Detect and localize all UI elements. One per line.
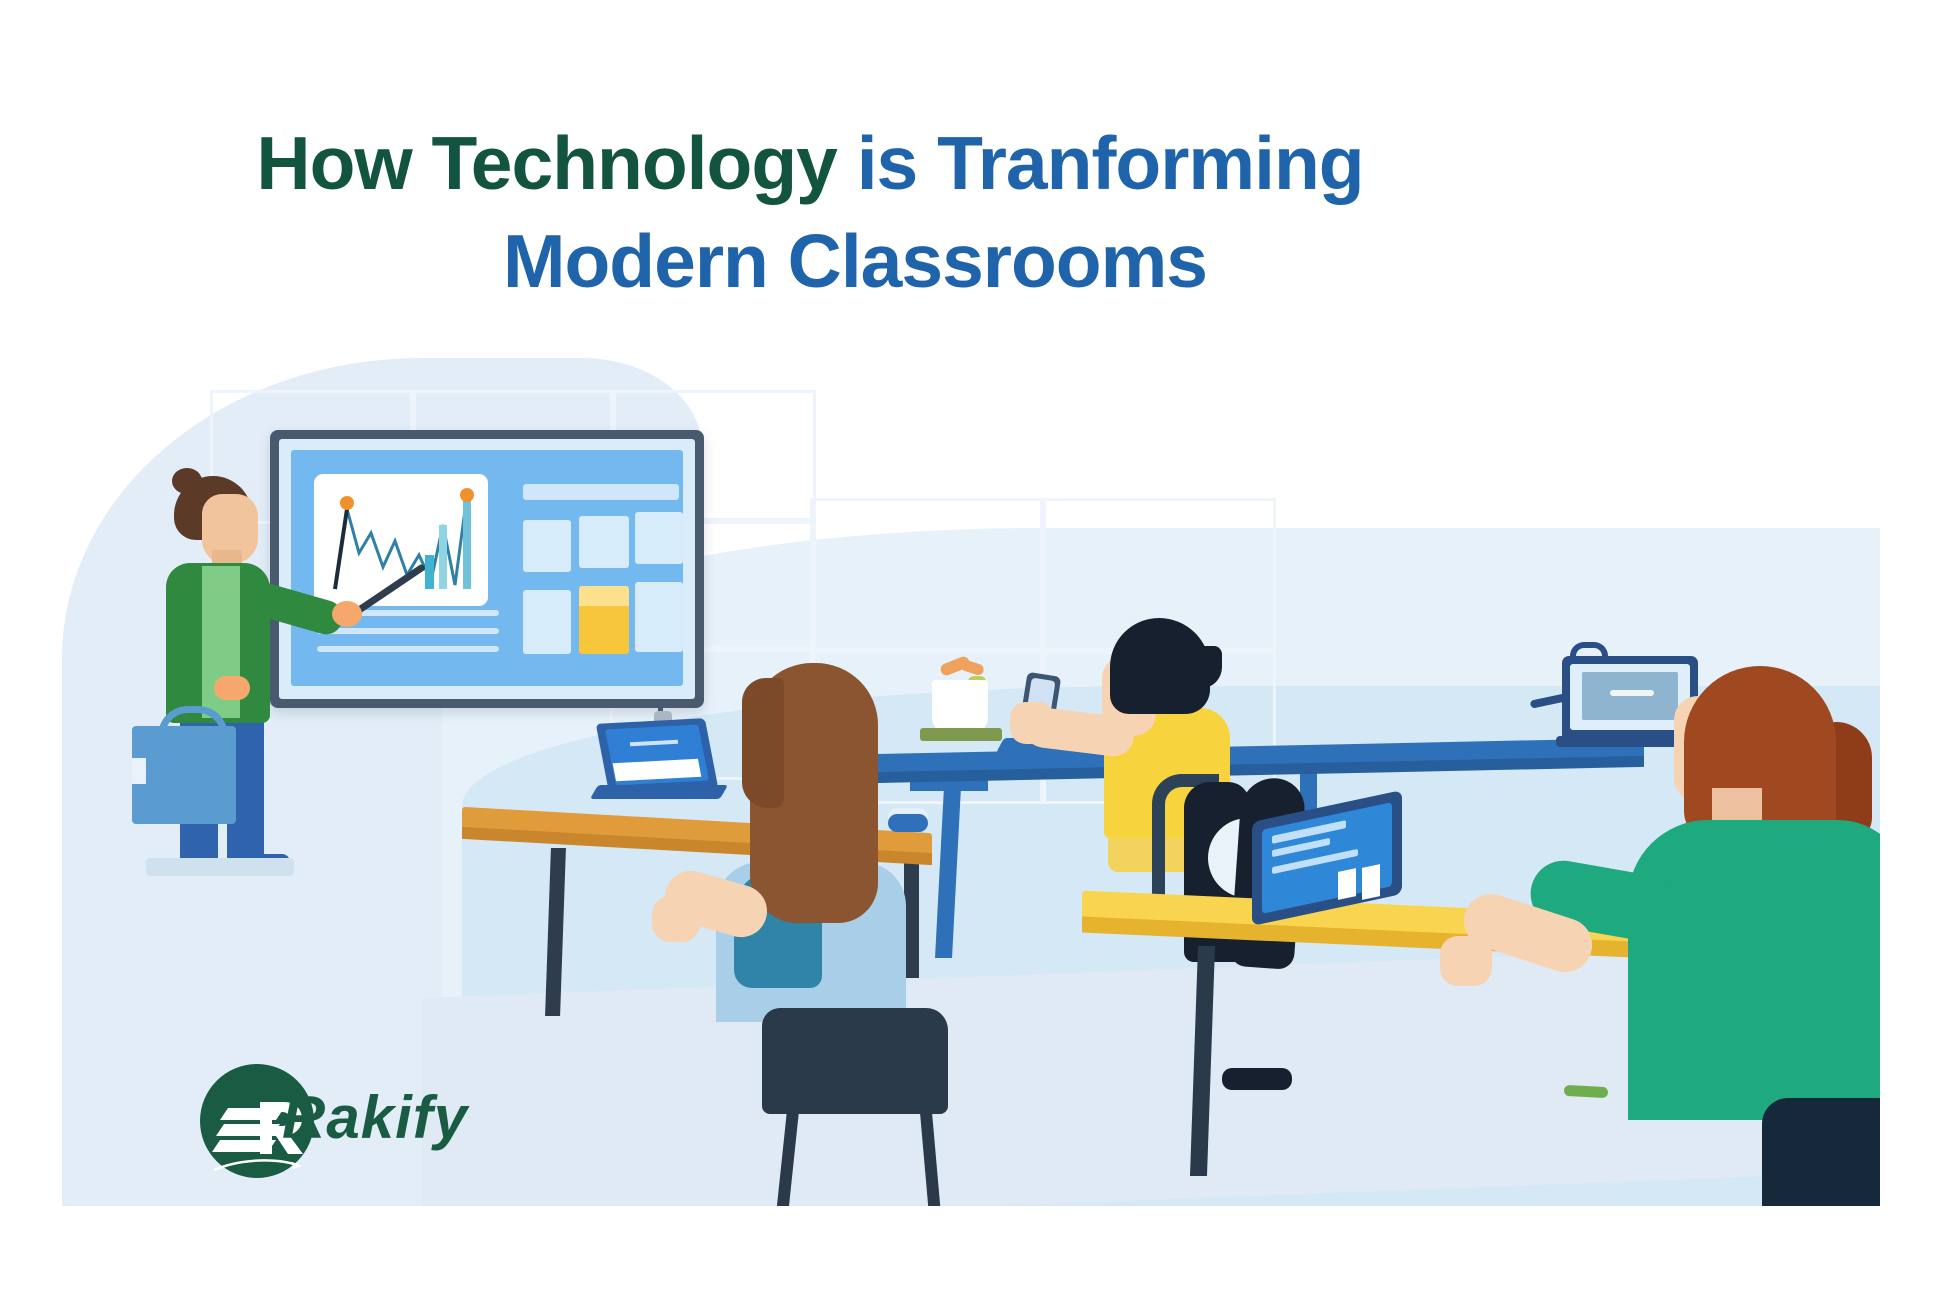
plant-pot (932, 680, 988, 732)
tablet-front-right[interactable] (1252, 806, 1412, 926)
laptop-base (590, 785, 728, 799)
whiteboard-card (523, 590, 571, 654)
floor-step (146, 858, 294, 876)
tote-bag-notch (132, 758, 146, 784)
teacher-hand (214, 676, 250, 700)
student-hair-tuft (1182, 646, 1222, 688)
window-pane (810, 498, 1046, 654)
teacher-hand (332, 601, 362, 627)
interactive-whiteboard[interactable] (270, 430, 704, 708)
whiteboard-chart-frame (314, 474, 488, 606)
student-hair-front (742, 678, 784, 808)
whiteboard-highlight-card-top (579, 586, 629, 606)
plant-tray (920, 728, 1002, 741)
tablet-image (1582, 672, 1678, 720)
pencil[interactable] (1564, 1085, 1609, 1098)
student-hand (652, 896, 700, 942)
tablet-screen-block (1362, 864, 1380, 900)
chair-back (1762, 1098, 1880, 1206)
tablet-screen-block (1338, 868, 1356, 900)
chart-marker (460, 488, 474, 502)
whiteboard-text-line (317, 628, 499, 634)
title-part-blue: is Tranforming (857, 121, 1364, 205)
whiteboard-header-bar (523, 484, 679, 500)
whiteboard-card (523, 520, 571, 572)
orange-desk-leg (904, 858, 919, 978)
student-hand (1440, 936, 1492, 986)
title-line-1: How Technology is Tranforming (120, 118, 1500, 210)
title-part-green: How Technology (256, 121, 836, 205)
page-title: How Technology is Tranforming Modern Cla… (120, 118, 1500, 307)
page-root: How Technology is Tranforming Modern Cla… (0, 0, 1938, 1297)
chair-back (762, 1008, 948, 1114)
whiteboard-card (635, 582, 683, 652)
chart-marker (340, 496, 354, 510)
laptop-front-left[interactable] (594, 721, 718, 803)
student-shirt (1628, 820, 1880, 1120)
tablet-image-detail (1610, 690, 1654, 696)
tote-bag (132, 726, 236, 824)
computer-mouse[interactable] (888, 814, 928, 832)
brand-logo[interactable]: Rakify (200, 1058, 500, 1184)
logo-wordmark: Rakify (282, 1088, 468, 1148)
whiteboard-screen (291, 450, 683, 686)
whiteboard-card (635, 512, 683, 564)
title-line-2: Modern Classrooms (120, 216, 1500, 308)
student-hand (1010, 702, 1054, 744)
whiteboard-card (579, 516, 629, 568)
whiteboard-text-line (317, 646, 499, 652)
student-shoe (1222, 1068, 1292, 1090)
